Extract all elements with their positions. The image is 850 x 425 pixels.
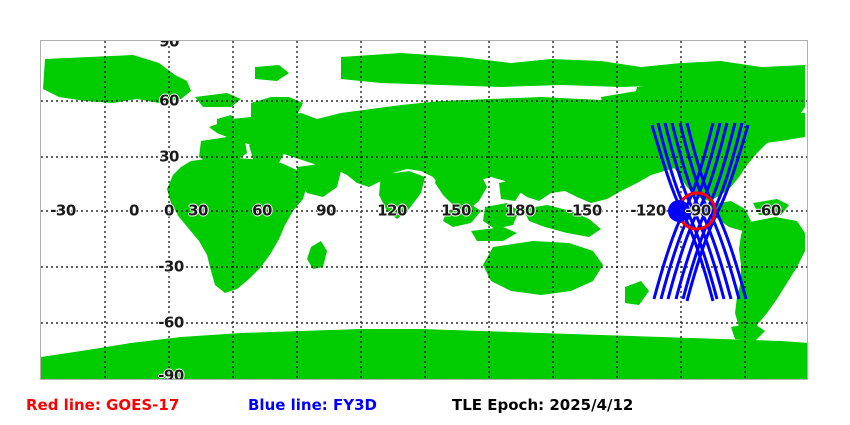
land-new-zealand bbox=[625, 281, 649, 305]
land-arctic-iceland bbox=[195, 93, 241, 107]
lon-tick-neg60: -60 bbox=[755, 204, 781, 219]
lon-tick-neg120: -120 bbox=[630, 204, 666, 219]
lon-tick-30: 30 bbox=[188, 204, 208, 219]
lon-tick-neg150: -150 bbox=[566, 204, 602, 219]
lat-tick-neg60: -60 bbox=[158, 316, 184, 331]
lat-tick-neg30: -30 bbox=[158, 260, 184, 275]
map-legend: Red line: GOES-17 Blue line: FY3D TLE Ep… bbox=[0, 392, 850, 420]
lon-tick-neg90: -90 bbox=[685, 204, 711, 219]
legend-tle-epoch: TLE Epoch: 2025/4/12 bbox=[452, 398, 633, 413]
land-antarctic-peninsula bbox=[731, 323, 765, 341]
legend-blue-line: Blue line: FY3D bbox=[248, 398, 377, 413]
lon-tick-120: 120 bbox=[377, 204, 407, 219]
land-australia bbox=[483, 241, 603, 295]
lat-tick-60: 60 bbox=[159, 94, 179, 109]
lon-tick-150: 150 bbox=[441, 204, 471, 219]
lat-tick-neg90: -90 bbox=[158, 369, 184, 381]
land-africa bbox=[167, 157, 307, 293]
lat-tick-30: 30 bbox=[159, 150, 179, 165]
lon-tick-180: 180 bbox=[505, 204, 535, 219]
land-madagascar bbox=[307, 241, 327, 269]
legend-red-line: Red line: GOES-17 bbox=[26, 398, 179, 413]
lat-tick-90: 90 bbox=[159, 40, 179, 50]
lon-tick-90: 90 bbox=[316, 204, 336, 219]
lon-tick-neg30: -30 bbox=[50, 204, 76, 219]
world-map: 90 60 30 0 -30 -60 -90 -30 0 30 60 90 12… bbox=[40, 40, 808, 380]
lon-tick-0: 0 bbox=[129, 204, 139, 219]
land-java bbox=[471, 227, 517, 241]
land-south-america bbox=[735, 217, 805, 333]
lon-tick-60: 60 bbox=[252, 204, 272, 219]
lat-tick-0: 0 bbox=[164, 204, 174, 219]
land-svalbard bbox=[255, 65, 289, 81]
